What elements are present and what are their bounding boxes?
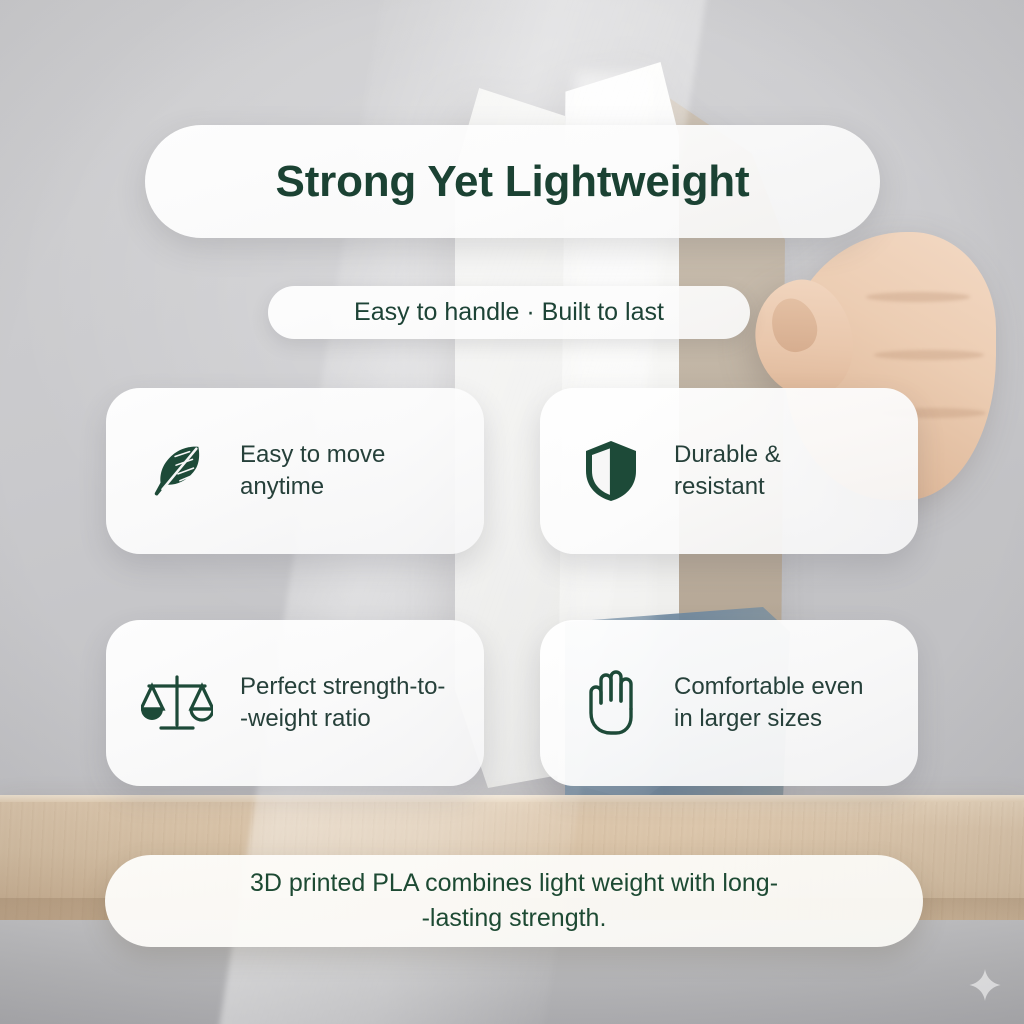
page-title: Strong Yet Lightweight [276,157,750,207]
open-hand-icon [574,666,648,740]
feature-card-comfortable[interactable]: Comfortable even in larger sizes [540,620,918,786]
feature-card-easy-to-move[interactable]: Easy to move anytime [106,388,484,554]
page-subtitle: Easy to handle · Built to last [354,298,664,327]
feature-label: Comfortable even in larger sizes [674,671,863,735]
subtitle-pill: Easy to handle · Built to last [268,286,750,339]
shield-icon [574,434,648,508]
infographic-stage: Strong Yet Lightweight Easy to handle · … [0,0,1024,1024]
feature-label: Easy to move anytime [240,439,385,503]
footer-pill: 3D printed PLA combines light weight wit… [105,855,923,947]
balance-scale-icon [140,666,214,740]
feature-card-strength-ratio[interactable]: Perfect strength-to- -weight ratio [106,620,484,786]
title-pill: Strong Yet Lightweight [145,125,880,238]
feature-card-durable[interactable]: Durable & resistant [540,388,918,554]
sparkle-icon [968,968,1002,1002]
overlay-ui: Strong Yet Lightweight Easy to handle · … [0,0,1024,1024]
feather-icon [140,434,214,508]
feature-label: Durable & resistant [674,439,781,503]
feature-grid: Easy to move anytime Durable & resistant [106,388,918,786]
feature-label: Perfect strength-to- -weight ratio [240,671,445,735]
footer-description: 3D printed PLA combines light weight wit… [250,866,778,937]
